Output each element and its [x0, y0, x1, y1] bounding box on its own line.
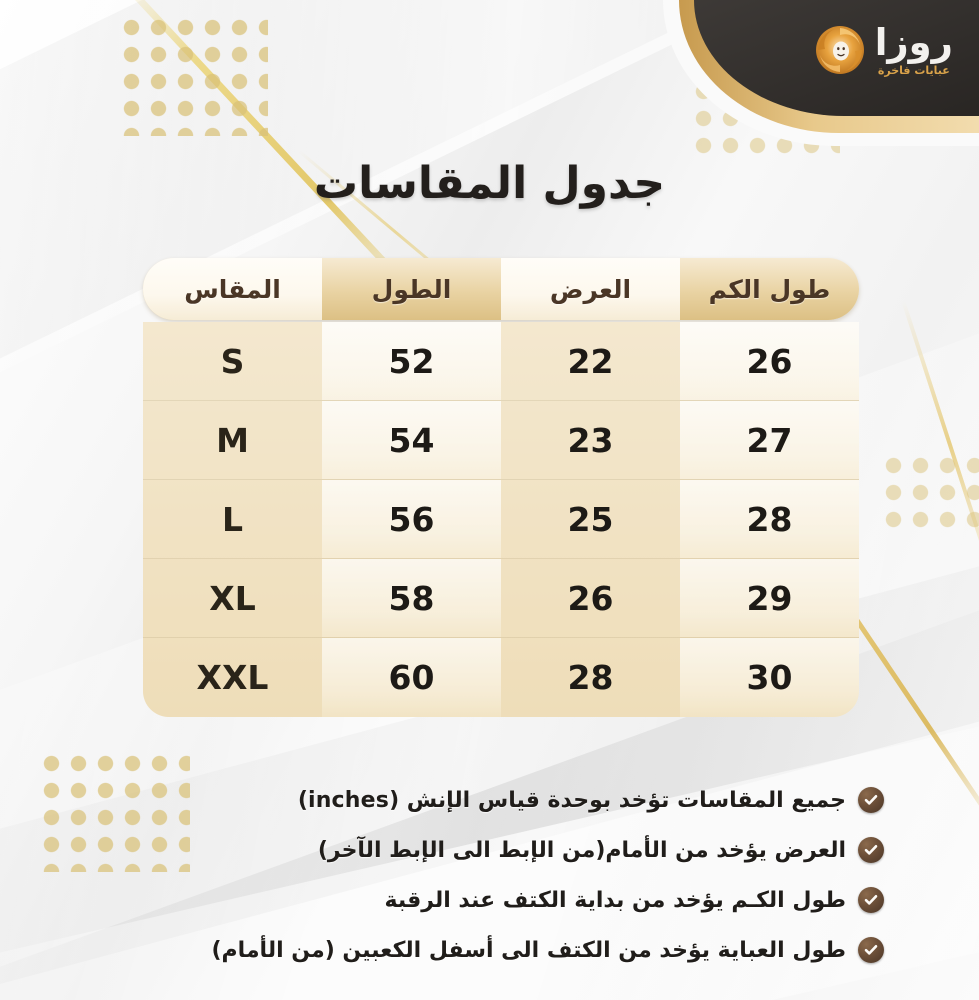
cell-sleeve-length: 26	[680, 322, 859, 400]
table-row: 26 22 52 S	[143, 322, 859, 401]
size-table: طول الكم العرض الطول المقاس 26 22 52 S 2…	[143, 258, 859, 720]
cell-width: 23	[501, 401, 680, 479]
dot-grid-right	[880, 452, 979, 532]
note-text: طول العباية يؤخد من الكتف الى أسفل الكعب…	[212, 938, 847, 963]
check-circle-icon	[858, 787, 884, 813]
check-circle-icon	[858, 837, 884, 863]
cell-sleeve-length: 27	[680, 401, 859, 479]
cell-width: 28	[501, 638, 680, 717]
check-circle-icon	[858, 937, 884, 963]
column-header-width: العرض	[501, 258, 680, 320]
cell-size: XL	[143, 559, 322, 637]
cell-width: 26	[501, 559, 680, 637]
note-text: طول الكـم يؤخد من بداية الكتف عند الرقبة	[385, 888, 846, 913]
column-header-sleeve-length: طول الكم	[680, 258, 859, 320]
cell-length: 60	[322, 638, 501, 717]
dot-grid-top-left	[118, 14, 268, 136]
table-body: 26 22 52 S 27 23 54 M 28 25 56 L 29 26 5…	[143, 322, 859, 717]
note-item: طول الكـم يؤخد من بداية الكتف عند الرقبة	[84, 875, 884, 925]
cell-sleeve-length: 30	[680, 638, 859, 717]
cell-sleeve-length: 29	[680, 559, 859, 637]
brand-logo: روزا عبايات فاخرة	[815, 24, 953, 76]
table-row: 29 26 58 XL	[143, 559, 859, 638]
cell-size: L	[143, 480, 322, 558]
table-row: 27 23 54 M	[143, 401, 859, 480]
note-item: العرض يؤخد من الأمام(من الإبط الى الإبط …	[84, 825, 884, 875]
note-item: جميع المقاسات تؤخد بوحدة قياس الإنش (inc…	[84, 775, 884, 825]
cell-width: 22	[501, 322, 680, 400]
measurement-notes: جميع المقاسات تؤخد بوحدة قياس الإنش (inc…	[84, 775, 884, 975]
note-text: العرض يؤخد من الأمام(من الإبط الى الإبط …	[318, 838, 846, 863]
cell-sleeve-length: 28	[680, 480, 859, 558]
gold-diagonal-line-top-left	[121, 0, 419, 299]
brand-tagline: عبايات فاخرة	[878, 65, 950, 76]
cell-length: 52	[322, 322, 501, 400]
size-chart-poster: روزا عبايات فاخرة	[0, 0, 979, 1000]
cell-size: XXL	[143, 638, 322, 717]
page-title: جدول المقاسات	[0, 158, 979, 209]
cell-width: 25	[501, 480, 680, 558]
note-item: طول العباية يؤخد من الكتف الى أسفل الكعب…	[84, 925, 884, 975]
brand-logo-text: روزا عبايات فاخرة	[875, 24, 953, 76]
cell-length: 54	[322, 401, 501, 479]
cell-size: S	[143, 322, 322, 400]
gold-diagonal-line-top-right	[901, 300, 979, 587]
note-text: جميع المقاسات تؤخد بوحدة قياس الإنش (inc…	[298, 788, 846, 813]
table-header-row: طول الكم العرض الطول المقاس	[143, 258, 859, 320]
table-row: 30 28 60 XXL	[143, 638, 859, 717]
cell-length: 58	[322, 559, 501, 637]
table-row: 28 25 56 L	[143, 480, 859, 559]
rose-swirl-icon	[815, 25, 865, 75]
column-header-length: الطول	[322, 258, 501, 320]
brand-name: روزا	[875, 24, 953, 61]
cell-size: M	[143, 401, 322, 479]
column-header-size: المقاس	[143, 258, 322, 320]
check-circle-icon	[858, 887, 884, 913]
cell-length: 56	[322, 480, 501, 558]
